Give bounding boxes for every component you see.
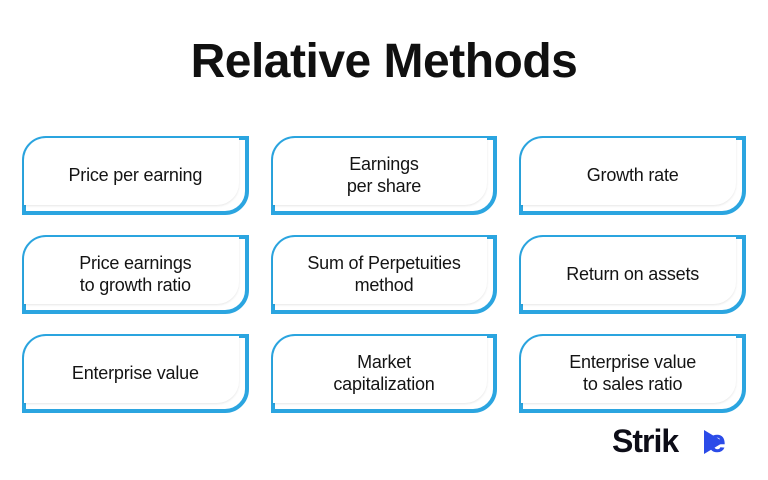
method-card-8[interactable]: Market capitalization	[271, 334, 498, 413]
logo-wordmark-dark: Strik	[612, 423, 679, 459]
method-card-3[interactable]: Growth rate	[519, 136, 746, 215]
infographic-page: Relative Methods Price per earning Earni…	[0, 0, 768, 480]
method-card-label: Growth rate	[587, 165, 679, 187]
strike-logo-svg: Strik e	[612, 422, 744, 462]
method-card-5[interactable]: Sum of Perpetuities method	[271, 235, 498, 314]
method-card-label: Market capitalization	[333, 352, 434, 396]
strike-logo[interactable]: Strik e	[612, 422, 744, 462]
method-card-1[interactable]: Price per earning	[22, 136, 249, 215]
page-title-container: Relative Methods	[0, 36, 768, 89]
method-card-label: Enterprise value	[72, 363, 199, 385]
method-card-label: Enterprise value to sales ratio	[569, 352, 696, 396]
method-card-label: Sum of Perpetuities method	[307, 253, 460, 297]
method-card-label: Price per earning	[68, 165, 202, 187]
method-card-label: Earnings per share	[347, 154, 421, 198]
method-card-label: Price earnings to growth ratio	[79, 253, 191, 297]
methods-grid: Price per earning Earnings per share Gro…	[22, 136, 746, 413]
method-card-2[interactable]: Earnings per share	[271, 136, 498, 215]
logo-wordmark-accent: e	[708, 423, 725, 459]
method-card-7[interactable]: Enterprise value	[22, 334, 249, 413]
method-card-6[interactable]: Return on assets	[519, 235, 746, 314]
method-card-9[interactable]: Enterprise value to sales ratio	[519, 334, 746, 413]
page-title: Relative Methods	[0, 36, 768, 89]
method-card-label: Return on assets	[566, 264, 699, 286]
method-card-4[interactable]: Price earnings to growth ratio	[22, 235, 249, 314]
